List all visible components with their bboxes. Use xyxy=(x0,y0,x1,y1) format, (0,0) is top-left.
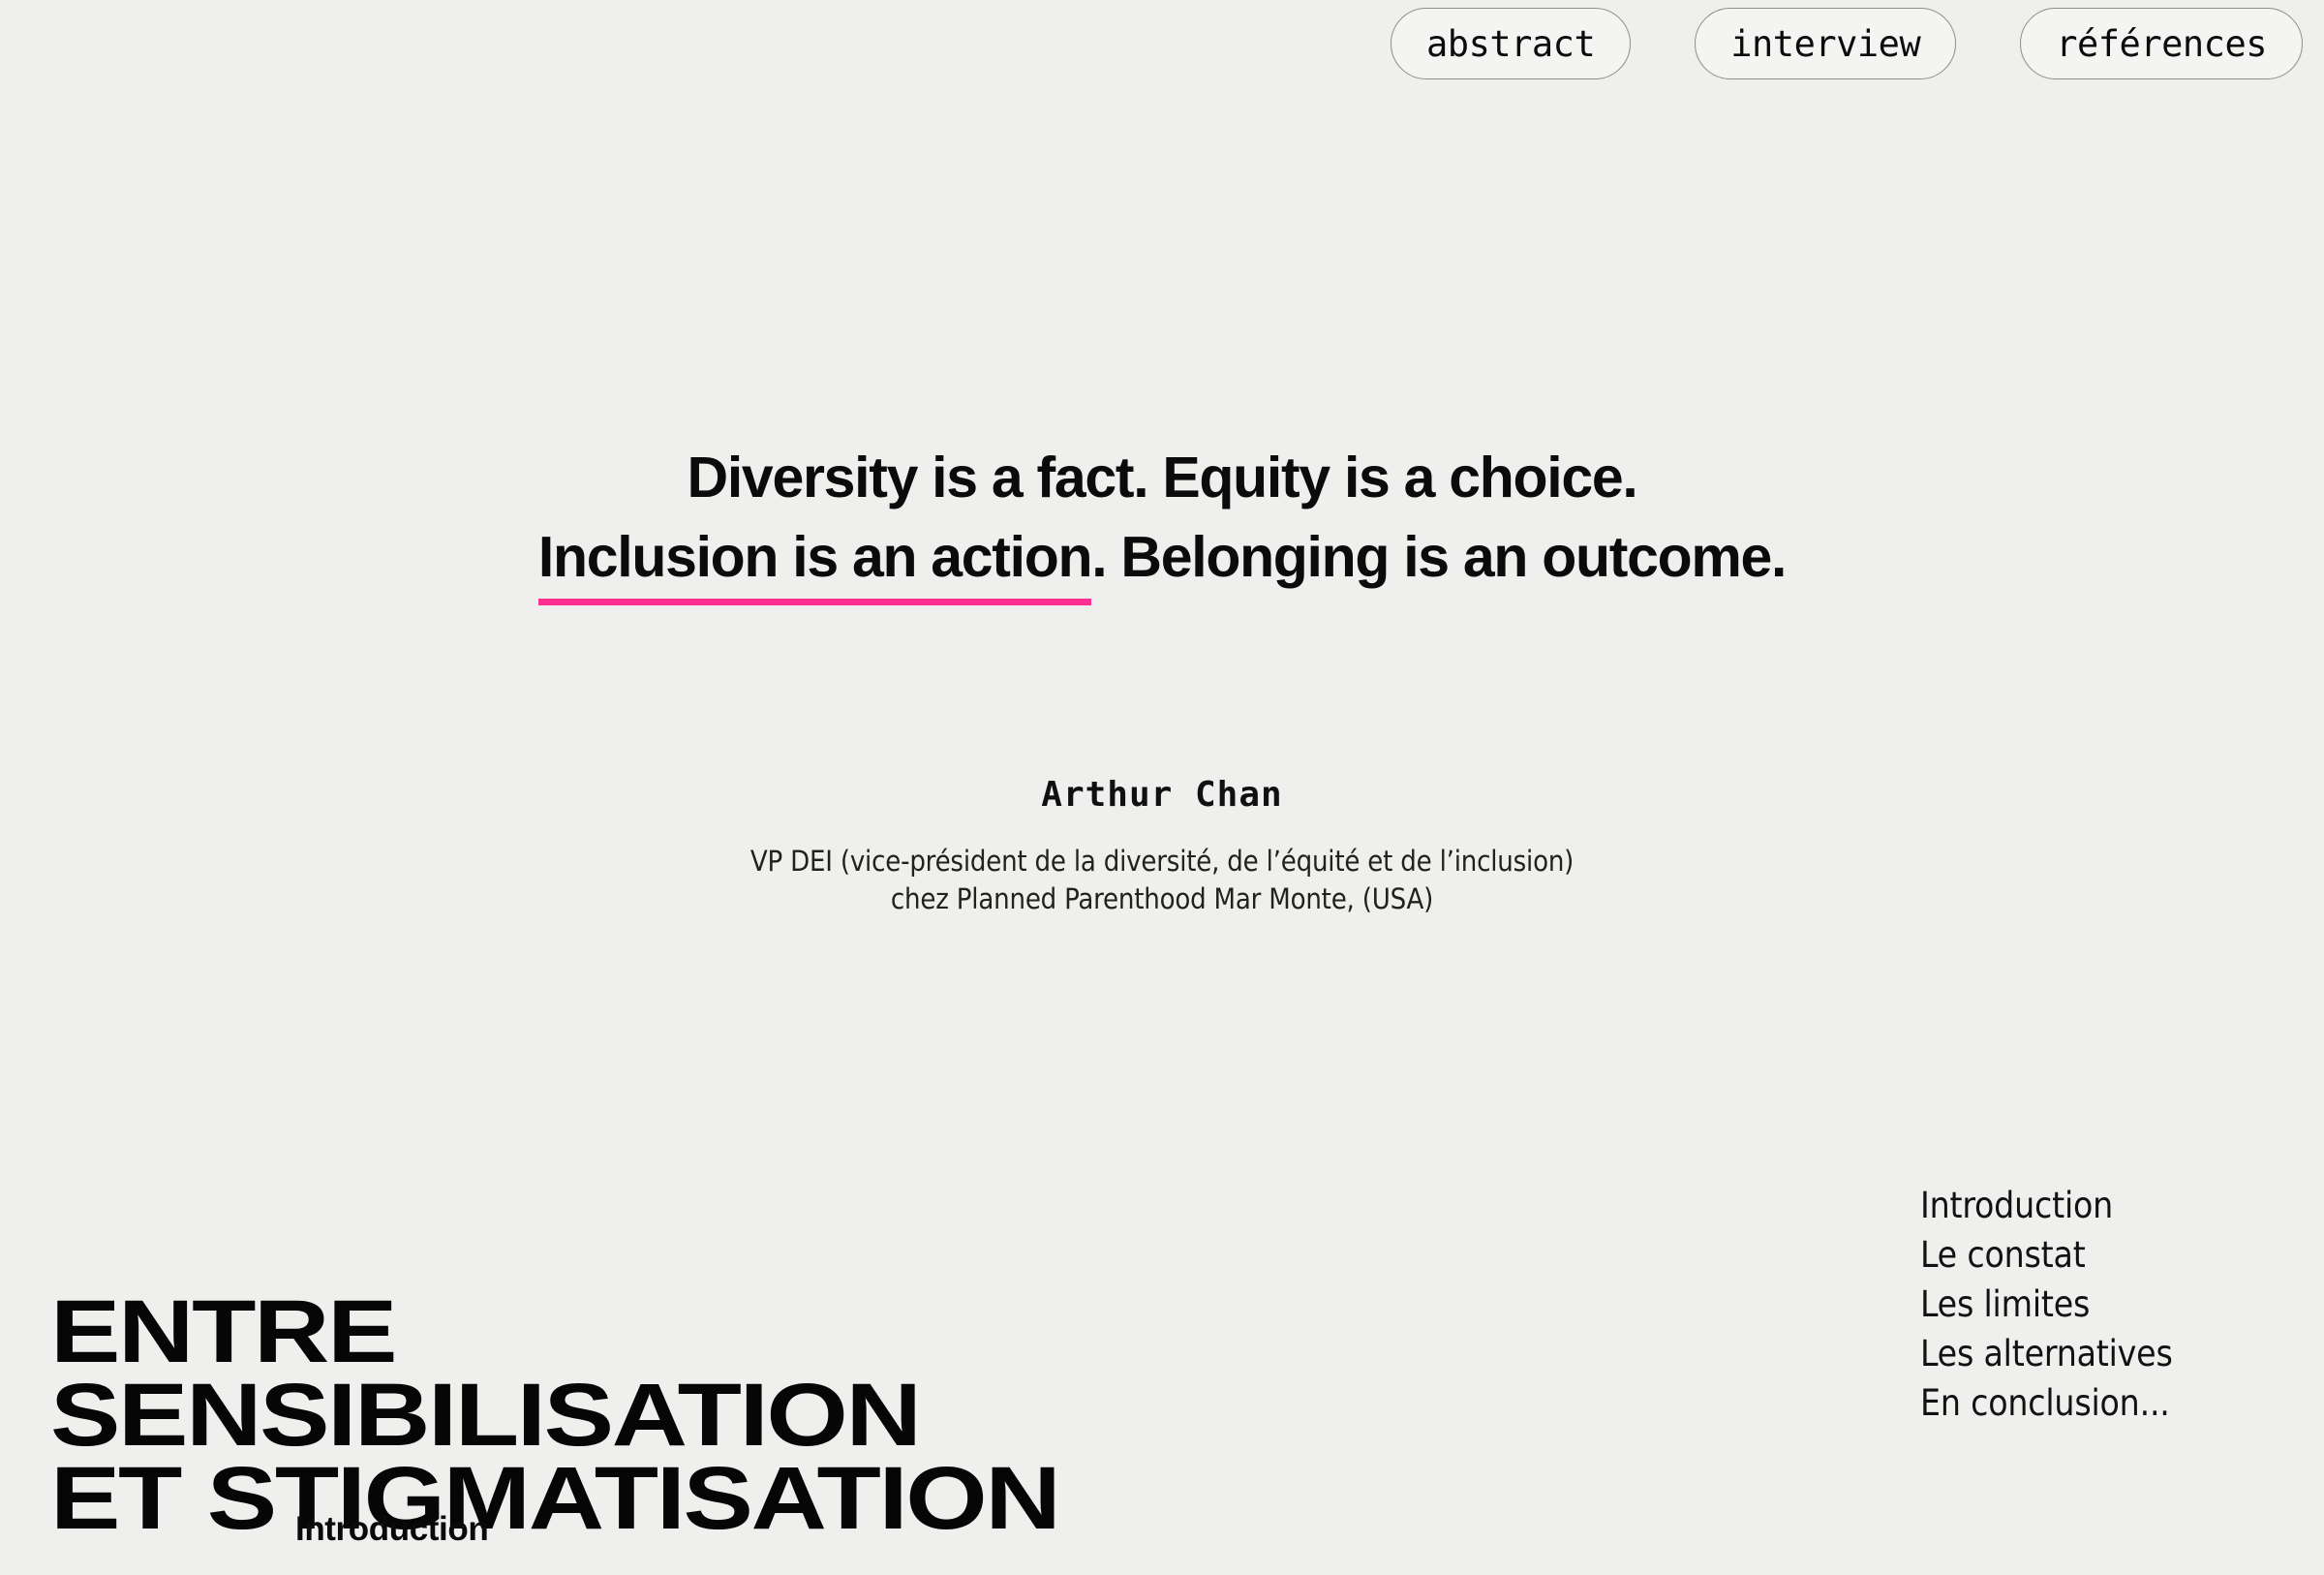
toc-item-en-conclusion[interactable]: En conclusion... xyxy=(1920,1378,2173,1428)
pull-quote: Diversity is a fact. Equity is a choice.… xyxy=(0,438,2324,597)
section-label-introduction: Introduction xyxy=(295,1509,488,1550)
table-of-contents: Introduction Le constat Les limites Les … xyxy=(1920,1181,2173,1428)
nav-pill-abstract-label: abstract xyxy=(1426,26,1595,62)
toc-item-le-constat[interactable]: Le constat xyxy=(1920,1230,2173,1280)
headline-line-3: ET STIGMATISATION xyxy=(50,1457,1058,1540)
headline-line-1: ENTRE xyxy=(50,1290,1058,1374)
toc-item-les-alternatives[interactable]: Les alternatives xyxy=(1920,1329,2173,1378)
quote-line-2-rest: . Belonging is an outcome. xyxy=(1091,525,1786,589)
nav-pill-interview[interactable]: interview xyxy=(1695,8,1956,79)
author-role-line-1: VP DEI (vice-président de la diversité, … xyxy=(0,843,2324,880)
quote-line-2: Inclusion is an action. Belonging is an … xyxy=(0,517,2324,597)
author-role-line-2: chez Planned Parenthood Mar Monte, (USA) xyxy=(0,880,2324,918)
nav-pill-references[interactable]: références xyxy=(2020,8,2303,79)
top-nav: abstract interview références xyxy=(1391,8,2303,79)
headline-line-2: SENSIBILISATION xyxy=(50,1374,1058,1457)
toc-item-introduction[interactable]: Introduction xyxy=(1920,1181,2173,1230)
quote-attribution: Arthur Chan VP DEI (vice-président de la… xyxy=(0,772,2324,918)
nav-pill-interview-label: interview xyxy=(1730,26,1920,62)
page-title: ENTRE SENSIBILISATION ET STIGMATISATION xyxy=(50,1290,1058,1540)
toc-item-les-limites[interactable]: Les limites xyxy=(1920,1280,2173,1329)
author-role: VP DEI (vice-président de la diversité, … xyxy=(0,843,2324,918)
quote-line-1: Diversity is a fact. Equity is a choice. xyxy=(0,438,2324,517)
nav-pill-abstract[interactable]: abstract xyxy=(1391,8,1631,79)
quote-highlight: Inclusion is an action xyxy=(538,517,1091,597)
author-name: Arthur Chan xyxy=(0,772,2324,818)
nav-pill-references-label: références xyxy=(2056,26,2267,62)
